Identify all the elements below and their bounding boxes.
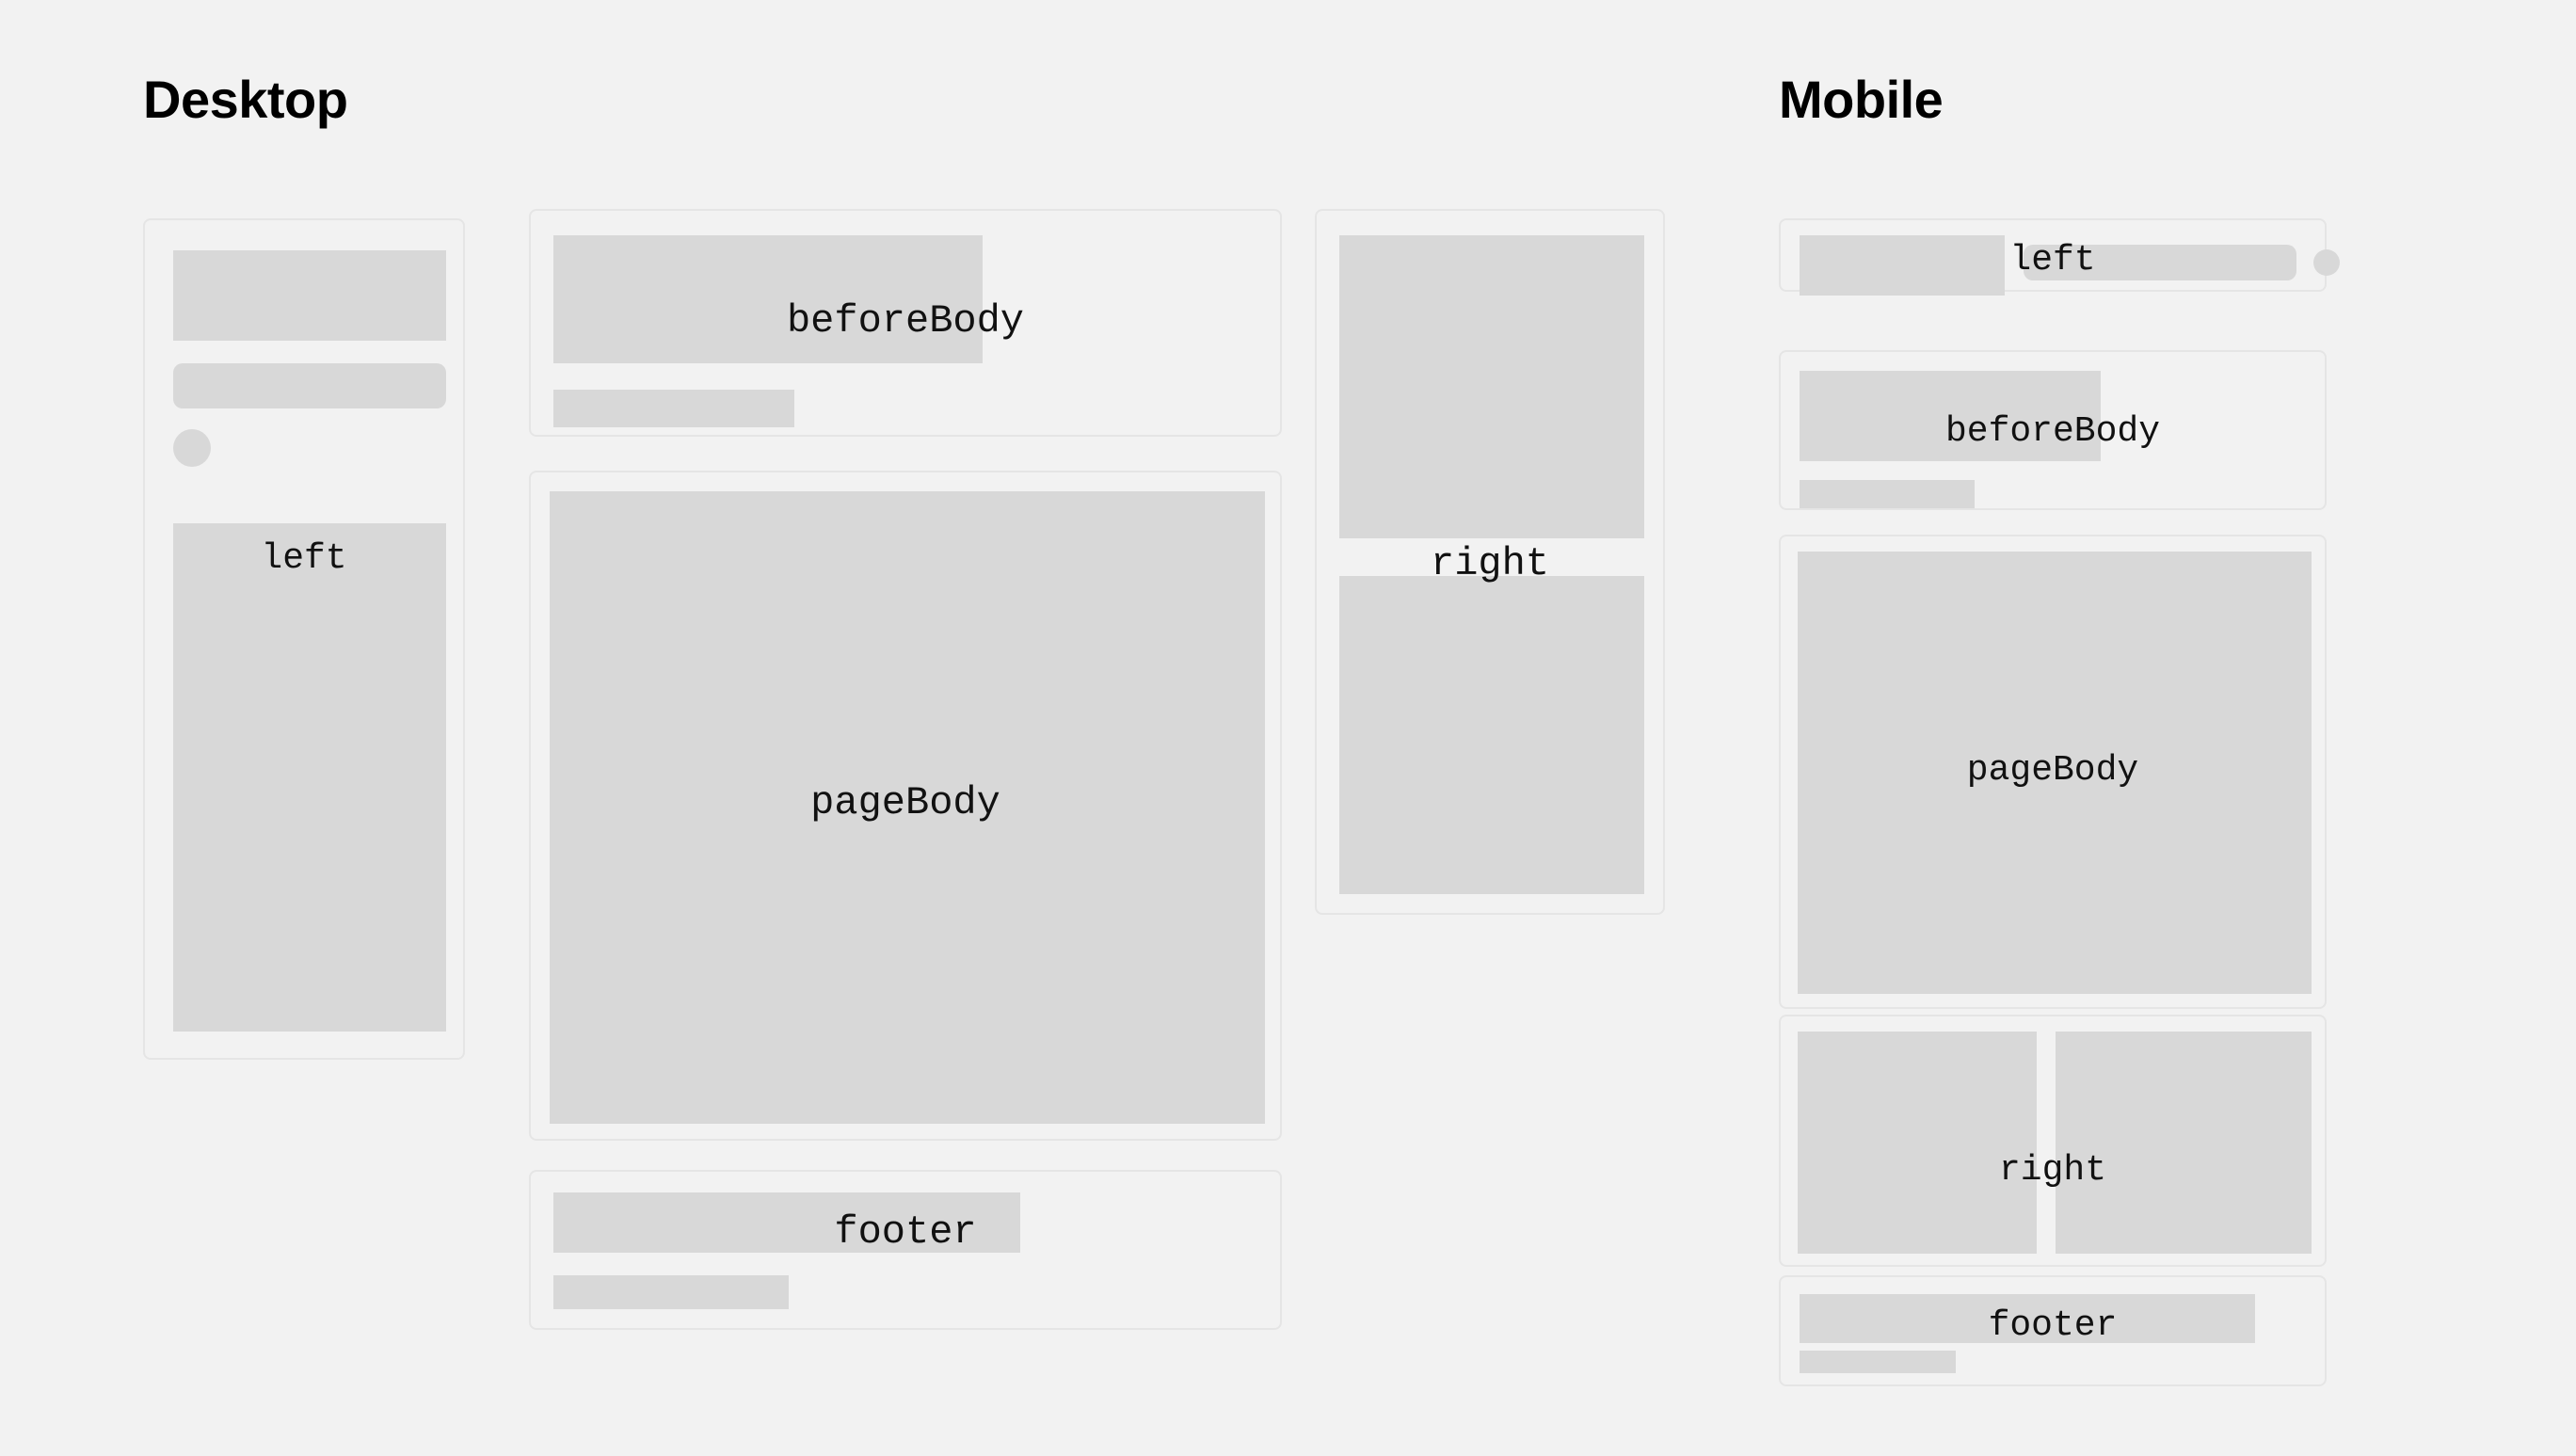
- desktop-left-region[interactable]: [143, 218, 465, 1060]
- placeholder-panel: [173, 523, 446, 1032]
- placeholder-block: [550, 491, 1265, 1124]
- placeholder-bar: [1800, 480, 1975, 508]
- placeholder-block: [1800, 1294, 2255, 1343]
- placeholder-block: [2056, 1032, 2312, 1254]
- desktop-right-region[interactable]: [1315, 209, 1665, 915]
- placeholder-block: [1798, 552, 2312, 994]
- placeholder-block: [1800, 235, 2005, 296]
- placeholder-block: [1339, 576, 1644, 894]
- placeholder-avatar-dot: [2313, 249, 2340, 276]
- desktop-before-body-region[interactable]: [529, 209, 1282, 437]
- placeholder-avatar-dot: [173, 429, 211, 467]
- placeholder-block: [553, 1192, 1020, 1253]
- placeholder-bar: [1800, 1351, 1956, 1373]
- mobile-footer-region[interactable]: [1779, 1275, 2327, 1386]
- placeholder-block: [1798, 1032, 2037, 1254]
- mobile-left-region[interactable]: [1779, 218, 2327, 292]
- placeholder-block: [1339, 235, 1644, 538]
- mobile-before-body-region[interactable]: [1779, 350, 2327, 510]
- placeholder-block: [173, 250, 446, 341]
- mobile-section-title: Mobile: [1779, 73, 1943, 126]
- placeholder-bar: [553, 1275, 789, 1309]
- wireframe-canvas: Desktop left beforeBody pageBody footer …: [0, 0, 2576, 1456]
- placeholder-bar: [2024, 245, 2296, 280]
- mobile-right-region[interactable]: [1779, 1015, 2327, 1267]
- desktop-section-title: Desktop: [143, 73, 347, 126]
- placeholder-bar: [553, 390, 794, 427]
- placeholder-block: [553, 235, 983, 363]
- desktop-footer-region[interactable]: [529, 1170, 1282, 1330]
- mobile-page-body-region[interactable]: [1779, 535, 2327, 1009]
- desktop-page-body-region[interactable]: [529, 471, 1282, 1141]
- placeholder-block: [1800, 371, 2101, 461]
- placeholder-bar: [173, 363, 446, 408]
